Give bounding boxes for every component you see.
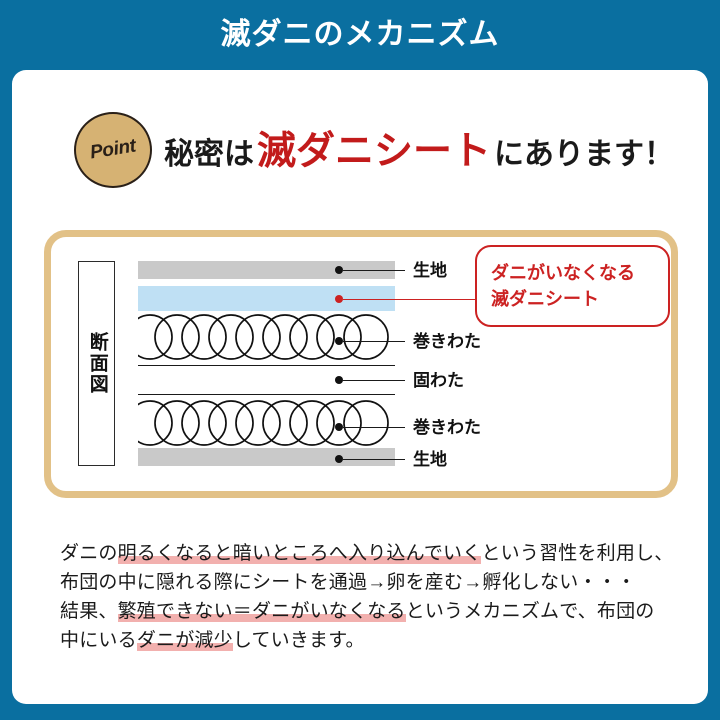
body-line-3: 結果、繁殖できない＝ダニがいなくなるというメカニズムで、布団の xyxy=(60,598,670,627)
leader-dot-coil-bottom xyxy=(335,423,343,431)
point-badge: Point xyxy=(74,112,152,188)
leader-line-fabric-top xyxy=(343,270,405,271)
body-line-3-b: というメカニズムで、布団の xyxy=(406,601,655,622)
leader-line-coil-top xyxy=(343,341,405,342)
coil-pattern-bottom-icon xyxy=(138,400,395,446)
sheet-callout-line-2: 滅ダニシート xyxy=(491,286,668,312)
body-line-4-b: していきます。 xyxy=(233,630,365,651)
layer-label-coil-top: 巻きわた xyxy=(413,333,481,350)
body-line-1-highlight: 明るくなると暗いところへ入り込んでいく xyxy=(118,543,482,564)
point-badge-label: Point xyxy=(89,136,138,165)
leader-dot-fabric-bottom xyxy=(335,455,343,463)
body-copy: ダニの明るくなると暗いところへ入り込んでいくという習性を利用し、 布団の中に隠れ… xyxy=(60,540,670,656)
layer-stack xyxy=(138,261,395,466)
point-keyword-text: 滅ダニシート xyxy=(257,130,491,173)
sheet-callout: ダニがいなくなる 滅ダニシート xyxy=(475,245,670,327)
point-keyword: 滅ダニシート xyxy=(254,132,494,171)
layer-label-fabric-top: 生地 xyxy=(413,262,447,279)
layer-coil-bottom xyxy=(138,400,395,446)
layer-label-coil-bottom: 巻きわた xyxy=(413,419,481,436)
leader-line-solid xyxy=(343,380,405,381)
leader-line-coil-bottom xyxy=(343,427,405,428)
point-headline: 秘密は 滅ダニシート にあります！ xyxy=(164,120,674,182)
body-line-1-a: ダニの xyxy=(60,543,118,564)
page-header: 滅ダニのメカニズム xyxy=(0,0,720,70)
leader-dot-fabric-top xyxy=(335,266,343,274)
sheet-callout-line-1: ダニがいなくなる xyxy=(491,260,668,286)
layer-coil-top xyxy=(138,314,395,360)
page-title: 滅ダニのメカニズム xyxy=(221,20,500,50)
leader-dot-solid xyxy=(335,376,343,384)
leader-line-sheet xyxy=(343,299,477,300)
body-line-4: 中にいるダニが減少していきます。 xyxy=(60,627,670,656)
leader-dot-sheet xyxy=(335,295,343,303)
layer-label-solid: 固わた xyxy=(413,372,464,389)
content-card: Point 秘密は 滅ダニシート にあります！ 断面図 xyxy=(12,70,708,704)
body-line-1: ダニの明るくなると暗いところへ入り込んでいくという習性を利用し、 xyxy=(60,540,670,569)
leader-dot-coil-top xyxy=(335,337,343,345)
body-line-2-text: 布団の中に隠れる際にシートを通過→卵を産む→孵化しない・・・ xyxy=(60,572,636,593)
coil-pattern-top-icon xyxy=(138,314,395,360)
body-line-3-highlight: 繁殖できない＝ダニがいなくなる xyxy=(118,601,406,622)
section-caption-box: 断面図 xyxy=(78,261,115,466)
layer-fabric-bottom xyxy=(138,448,395,466)
body-line-3-a: 結果、 xyxy=(60,601,118,622)
cross-section-diagram: 断面図 xyxy=(44,230,678,498)
body-line-4-a: 中にいる xyxy=(60,630,137,651)
point-lead-text: 秘密は xyxy=(164,129,254,173)
leader-line-fabric-bottom xyxy=(343,459,405,460)
layer-label-fabric-bottom: 生地 xyxy=(413,451,447,468)
body-line-4-highlight: ダニが減少 xyxy=(137,630,233,651)
body-line-1-b: という習性を利用し、 xyxy=(481,543,673,564)
section-caption-label: 断面図 xyxy=(85,332,107,395)
point-tail-text: にあります！ xyxy=(494,129,674,173)
point-headline-row: Point 秘密は 滅ダニシート にあります！ xyxy=(12,108,708,192)
body-line-2: 布団の中に隠れる際にシートを通過→卵を産む→孵化しない・・・ xyxy=(60,569,670,598)
